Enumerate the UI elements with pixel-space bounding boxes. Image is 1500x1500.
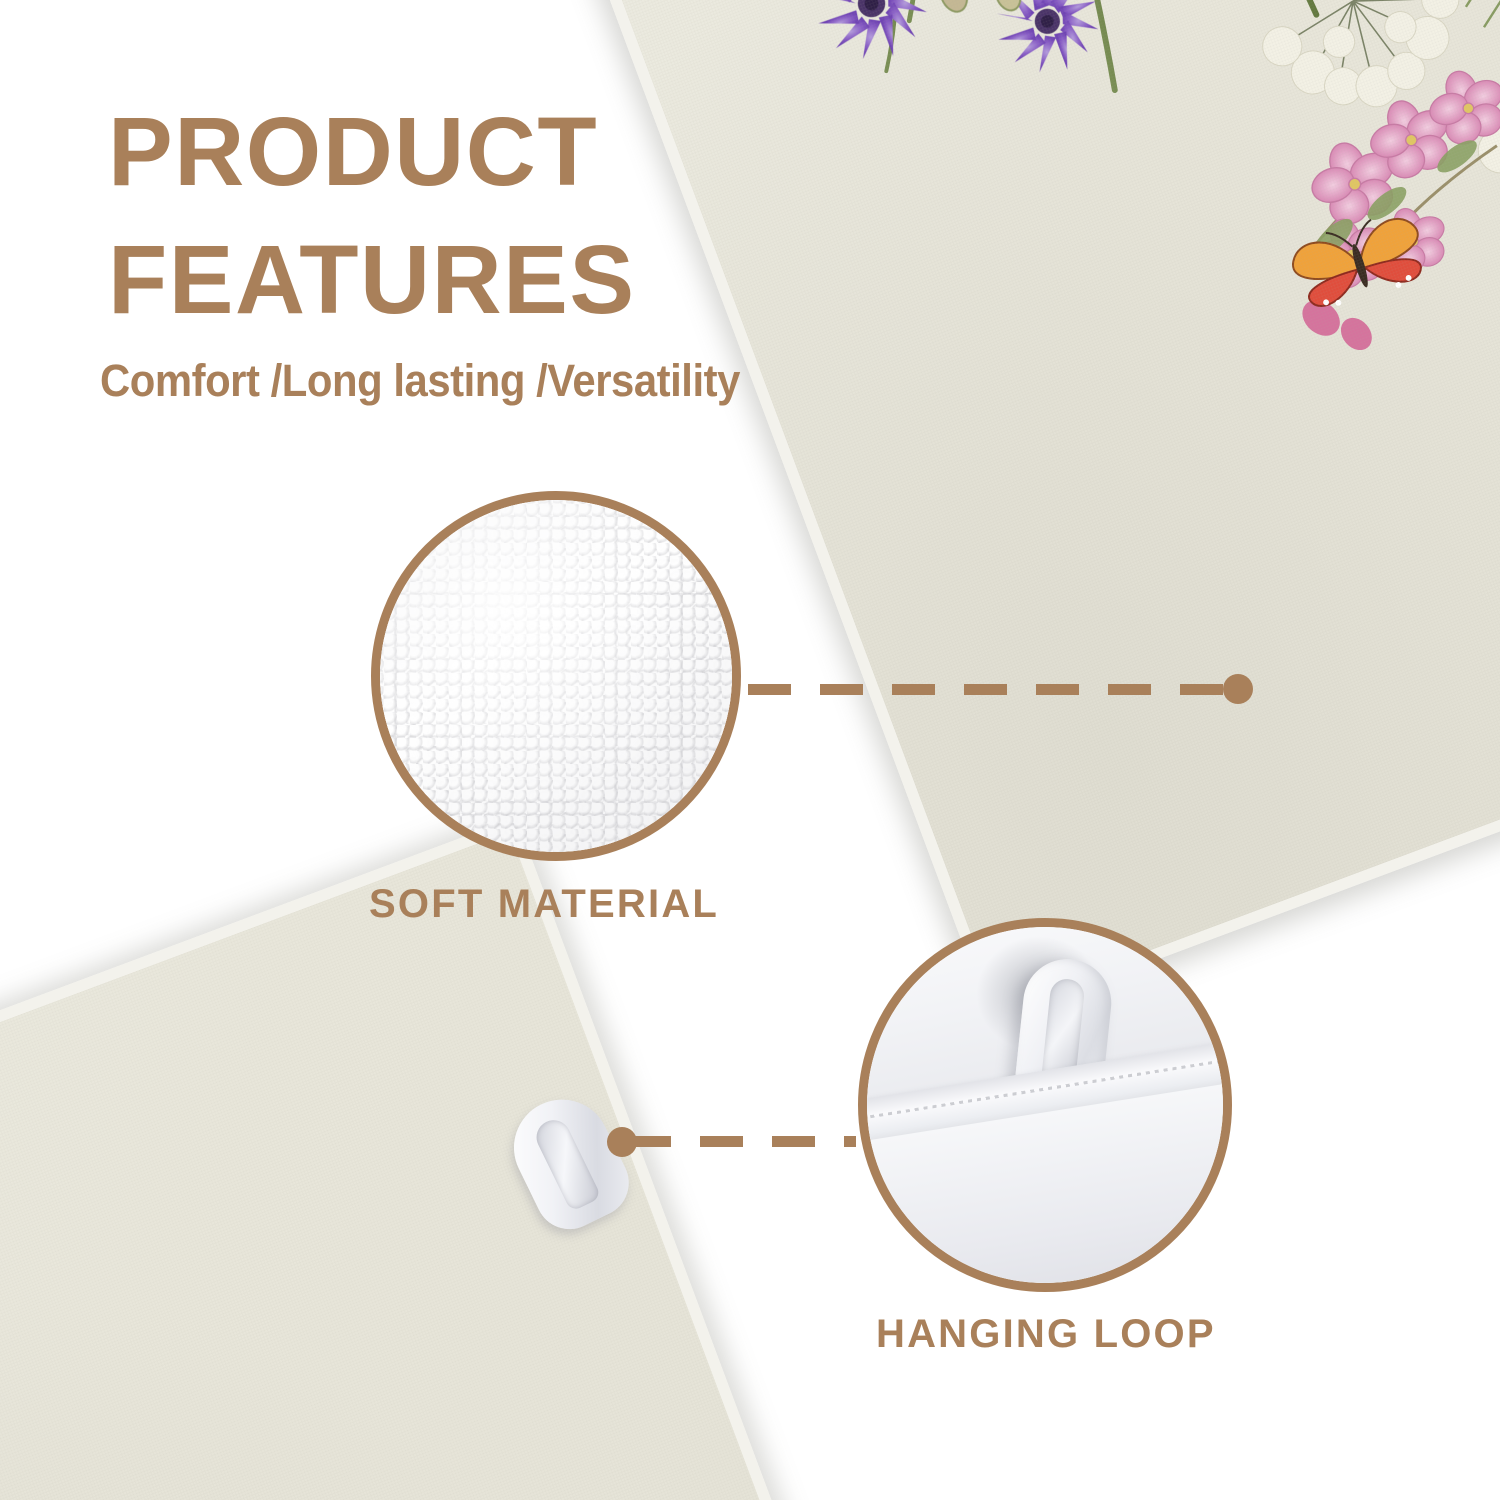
soft-material-closeup: [380, 500, 732, 852]
page-title: PRODUCT FEATURES: [108, 88, 868, 344]
connector-line-soft-material: [748, 684, 1228, 695]
terry-fabric-texture: [380, 500, 732, 852]
hanging-loop-circle: [858, 918, 1232, 1292]
soft-material-circle: [371, 491, 741, 861]
product-features-infographic: PRODUCT FEATURES Comfort /Long lasting /…: [0, 0, 1500, 1500]
hanging-loop-label: HANGING LOOP: [876, 1312, 1216, 1357]
connector-dot-soft-material: [1223, 674, 1253, 704]
hanging-loop-closeup: [867, 927, 1223, 1283]
connector-line-hanging-loop: [628, 1136, 856, 1147]
page-subtitle: Comfort /Long lasting /Versatility: [100, 355, 740, 407]
title-line-2: FEATURES: [108, 216, 868, 344]
soft-material-label: SOFT MATERIAL: [369, 882, 719, 927]
title-line-1: PRODUCT: [108, 88, 868, 216]
floral-pattern-bottom: [0, 831, 867, 1500]
loop-stitch-photo: [867, 927, 1223, 1283]
